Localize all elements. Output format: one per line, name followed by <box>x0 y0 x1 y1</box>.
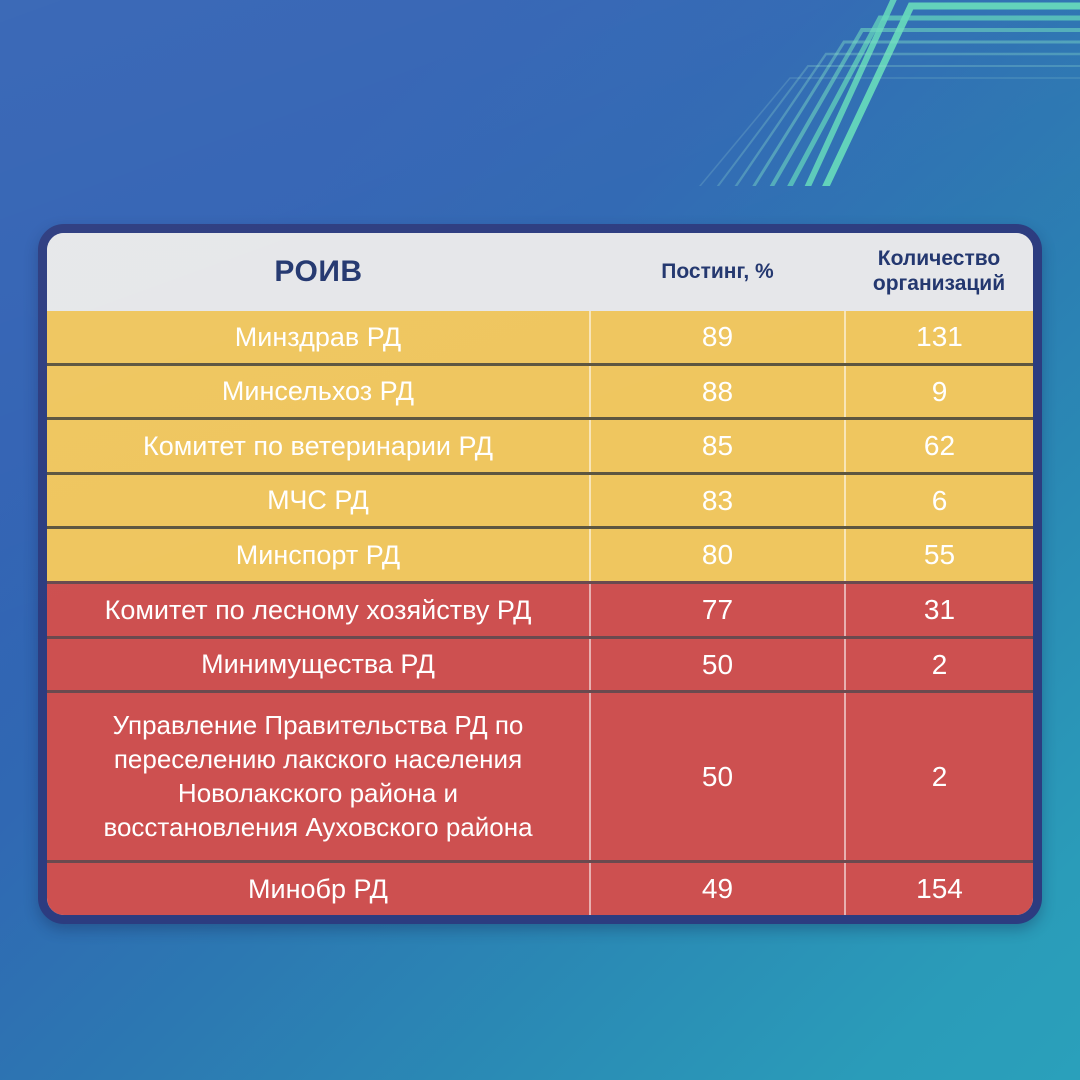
table-row: Минимущества РД 50 2 <box>47 637 1033 692</box>
row-name: Минобр РД <box>47 862 590 915</box>
roiv-table: РОИВ Постинг, % Количество организаций М… <box>47 233 1033 915</box>
row-posting: 83 <box>590 473 845 528</box>
table-header: РОИВ Постинг, % Количество организаций <box>47 233 1033 311</box>
table-row: Минобр РД 49 154 <box>47 862 1033 915</box>
row-org-count: 9 <box>845 364 1033 419</box>
row-posting: 89 <box>590 311 845 364</box>
table-row: Минздрав РД 89 131 <box>47 311 1033 364</box>
row-name: Минспорт РД <box>47 528 590 583</box>
row-name-line-4: восстановления Ауховского района <box>103 812 532 842</box>
table-row: МЧС РД 83 6 <box>47 473 1033 528</box>
row-name: Комитет по лесному хозяйству РД <box>47 582 590 637</box>
table-row: Минспорт РД 80 55 <box>47 528 1033 583</box>
org-count-line-2: организаций <box>873 272 1005 295</box>
row-org-count: 2 <box>845 692 1033 862</box>
row-posting: 80 <box>590 528 845 583</box>
row-org-count: 6 <box>845 473 1033 528</box>
table-row: Управление Правительства РД по переселен… <box>47 692 1033 862</box>
row-org-count: 131 <box>845 311 1033 364</box>
row-org-count: 62 <box>845 419 1033 474</box>
header-row: РОИВ Постинг, % Количество организаций <box>47 233 1033 311</box>
row-posting: 85 <box>590 419 845 474</box>
roiv-table-card: РОИВ Постинг, % Количество организаций М… <box>38 224 1042 924</box>
row-posting: 49 <box>590 862 845 915</box>
row-name: МЧС РД <box>47 473 590 528</box>
row-org-count: 31 <box>845 582 1033 637</box>
row-name-line-1: Управление Правительства РД по <box>113 710 524 740</box>
row-org-count: 55 <box>845 528 1033 583</box>
row-posting: 50 <box>590 637 845 692</box>
row-name-line-3: Новолакского района и <box>178 778 458 808</box>
column-header-roiv: РОИВ <box>47 233 590 311</box>
row-name: Минздрав РД <box>47 311 590 364</box>
table-row: Комитет по ветеринарии РД 85 62 <box>47 419 1033 474</box>
row-org-count: 154 <box>845 862 1033 915</box>
org-count-line-1: Количество <box>878 247 1000 270</box>
row-posting: 88 <box>590 364 845 419</box>
table-row: Комитет по лесному хозяйству РД 77 31 <box>47 582 1033 637</box>
chevron-decoration <box>666 0 1080 186</box>
row-name-line-2: переселению лакского населения <box>114 744 522 774</box>
column-header-posting: Постинг, % <box>590 233 845 311</box>
row-posting: 50 <box>590 692 845 862</box>
column-header-org-count: Количество организаций <box>845 233 1033 311</box>
poster-canvas: РОИВ Постинг, % Количество организаций М… <box>0 0 1080 1080</box>
table-body: Минздрав РД 89 131 Минсельхоз РД 88 9 Ко… <box>47 311 1033 915</box>
row-name: Минимущества РД <box>47 637 590 692</box>
row-name: Комитет по ветеринарии РД <box>47 419 590 474</box>
table-row: Минсельхоз РД 88 9 <box>47 364 1033 419</box>
row-name: Минсельхоз РД <box>47 364 590 419</box>
row-name: Управление Правительства РД по переселен… <box>47 692 590 862</box>
row-posting: 77 <box>590 582 845 637</box>
row-org-count: 2 <box>845 637 1033 692</box>
